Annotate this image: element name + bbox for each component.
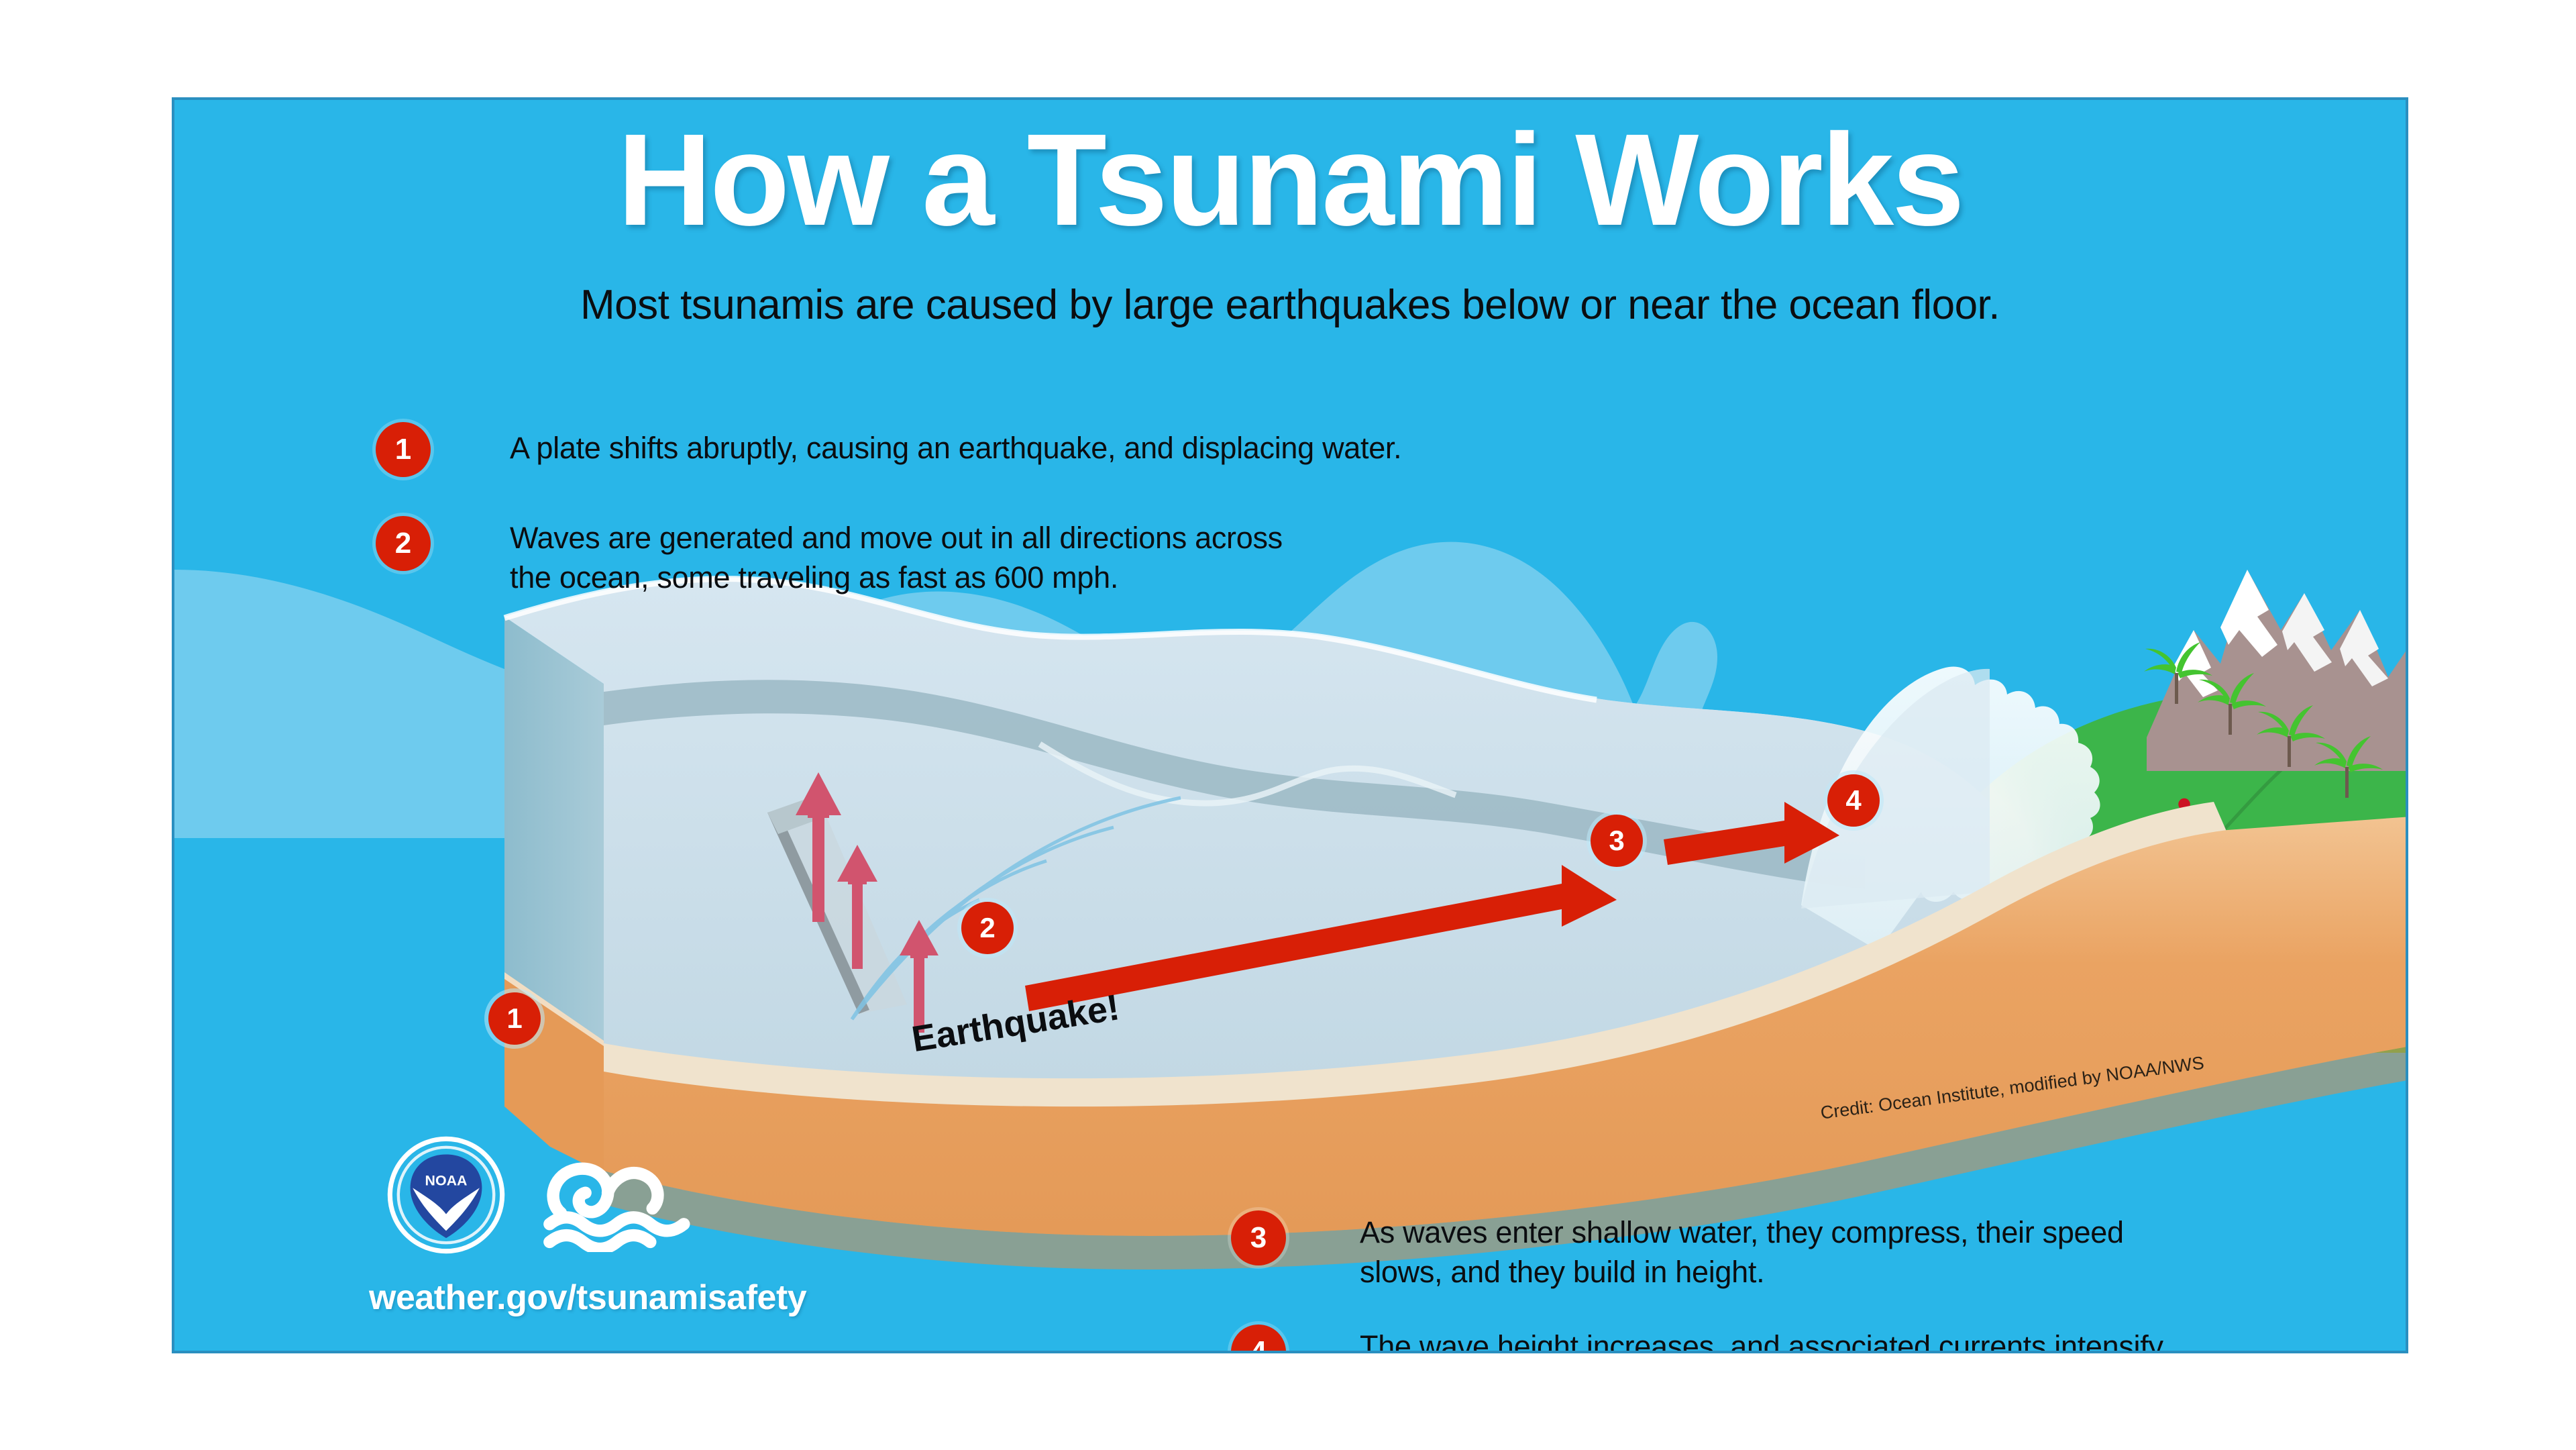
step-badge-4: 4 [1231,1325,1286,1353]
step-badge-2: 2 [376,516,431,571]
scene-marker-1: 1 [488,992,541,1045]
scene-marker-3: 3 [1591,815,1643,867]
svg-text:NOAA: NOAA [425,1173,468,1189]
step-item-1: 1 A plate shifts abruptly, causing an ea… [376,422,1401,477]
website-url[interactable]: weather.gov/tsunamisafety [369,1278,806,1318]
infographic-panel: How a Tsunami Works Most tsunamis are ca… [172,97,2408,1353]
step-text-1: A plate shifts abruptly, causing an eart… [510,429,1401,468]
mountain-range [2147,570,2408,771]
infographic-root: How a Tsunami Works Most tsunamis are ca… [0,0,2576,1450]
step-text-2: Waves are generated and move out in all … [510,519,1283,597]
tsunami-wave-logo-icon [534,1138,702,1252]
step-item-4: 4 The wave height increases, and associa… [1231,1325,2169,1353]
page-subtitle: Most tsunamis are caused by large earthq… [174,281,2406,329]
step-badge-3: 3 [1231,1210,1286,1265]
step-text-4: The wave height increases, and associate… [1360,1327,2169,1353]
scene-marker-4: 4 [1827,774,1880,827]
step-item-3: 3 As waves enter shallow water, they com… [1231,1210,2124,1292]
noaa-logo-icon: NOAA [386,1135,506,1255]
logo-row: NOAA [386,1135,702,1255]
page-title: How a Tsunami Works [174,115,2406,246]
step-badge-1: 1 [376,422,431,477]
step-text-3: As waves enter shallow water, they compr… [1360,1213,2124,1292]
scene-marker-2: 2 [961,902,1014,954]
step-item-2: 2 Waves are generated and move out in al… [376,516,1283,597]
